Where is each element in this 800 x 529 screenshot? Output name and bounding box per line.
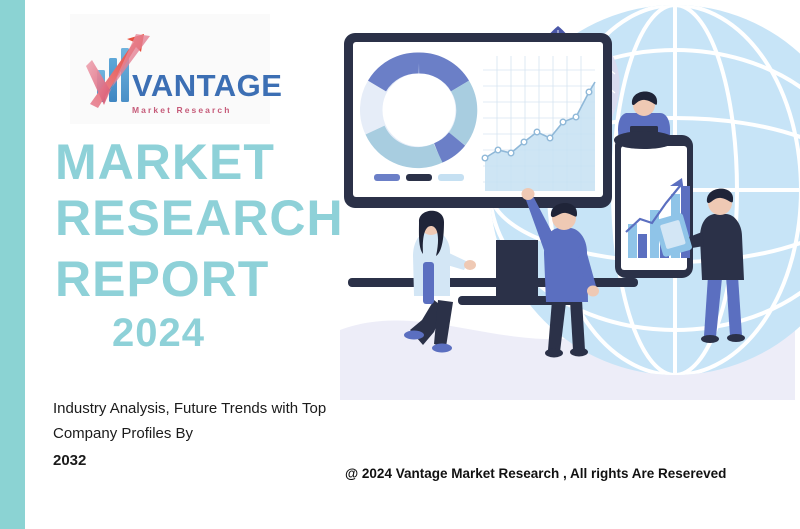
logo-block: VANTAGE Market Research — [70, 14, 270, 124]
market-research-report-cover: VANTAGE Market Research MARKET RESEARCH … — [0, 0, 800, 529]
logo-vantage-text: VANTAGE — [132, 70, 272, 101]
line-area-chart — [482, 56, 595, 191]
subtitle: Industry Analysis, Future Trends with To… — [53, 396, 333, 473]
left-accent-bar — [0, 0, 25, 529]
page-title-line-3: REPORT — [55, 254, 269, 304]
page-title-line-2: RESEARCH — [55, 193, 344, 243]
donut-legend — [374, 174, 464, 181]
page-title-year: 2024 — [112, 313, 205, 353]
copyright-footer: @ 2024 Vantage Market Research , All rig… — [345, 466, 726, 481]
subtitle-line-1: Industry Analysis, Future Trends — [53, 400, 267, 417]
market-research-dashboard-illustration — [330, 0, 800, 400]
logo-wordmark: VANTAGE Market Research — [132, 70, 272, 115]
monitor-neck — [496, 240, 538, 298]
logo-tagline-text: Market Research — [132, 105, 272, 115]
subtitle-line-3: 2032 — [53, 448, 333, 473]
smartphone-bar-chart — [615, 135, 693, 278]
page-title-line-1: MARKET — [55, 137, 275, 187]
